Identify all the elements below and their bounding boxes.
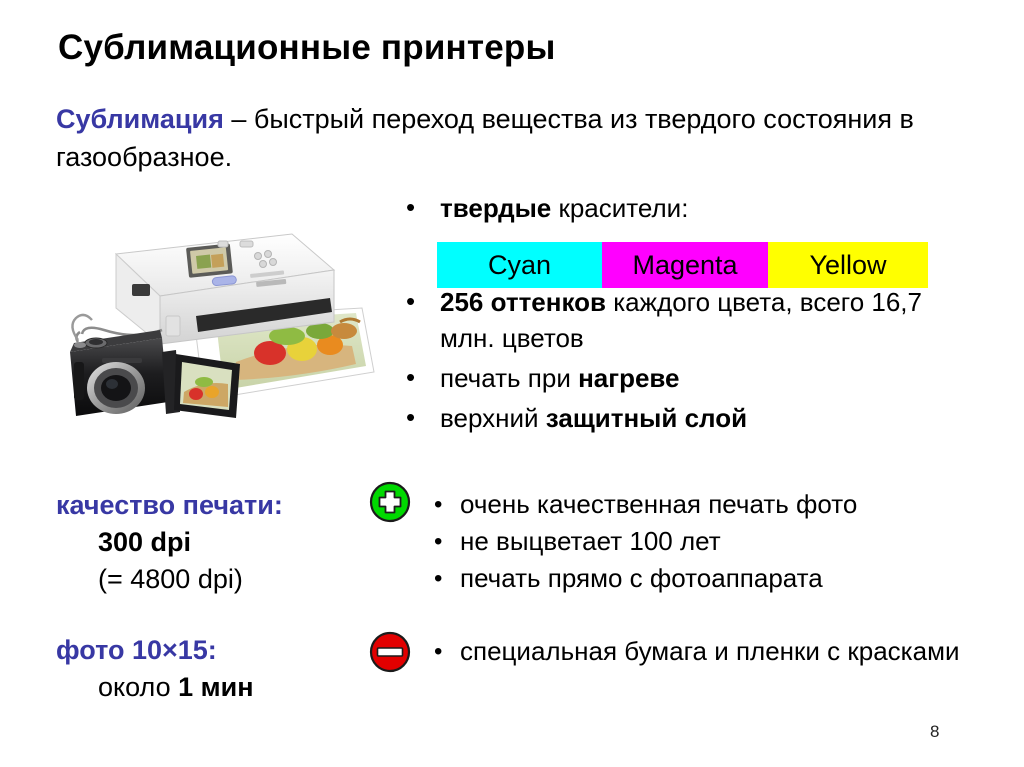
definition-paragraph: Сублимация – быстрый переход вещества из…: [56, 100, 926, 176]
feature-rest-0: красители:: [551, 193, 688, 223]
spec-photo-prefix: около: [98, 672, 178, 702]
spec-dpi-value: 300 dpi: [98, 527, 191, 557]
cmy-color-bar: Cyan Magenta Yellow: [437, 242, 928, 288]
spec-print-quality-label: качество печати:: [56, 487, 376, 524]
pro-item-fade-resistance: не выцветает 100 лет: [432, 523, 992, 560]
color-cell-yellow: Yellow: [768, 242, 928, 288]
feature-bold-0: твердые: [440, 193, 551, 223]
feature-item-256-shades: 256 оттенков каждого цвета, всего 16,7 м…: [404, 284, 964, 356]
spec-photo-time: фото 10×15: около 1 мин: [56, 632, 376, 706]
cons-list: специальная бумага и пленки с красками: [432, 633, 962, 670]
feature-bold-2: нагреве: [578, 363, 679, 393]
features-list: твердые красители: 256 оттенков каждого …: [404, 190, 964, 440]
spec-photo-duration: 1 мин: [178, 672, 253, 702]
photo-printer-and-camera-illustration: [44, 212, 384, 447]
spec-photo-label: фото 10×15:: [56, 632, 376, 669]
color-cell-cyan: Cyan: [437, 242, 602, 288]
printer-camera-svg: [44, 212, 384, 447]
color-cell-magenta: Magenta: [602, 242, 768, 288]
feature-rest-2: печать при: [440, 363, 578, 393]
page-number: 8: [930, 722, 939, 742]
spec-print-quality-value: 300 dpi: [56, 524, 376, 561]
feature-item-heat-printing: печать при нагреве: [404, 360, 964, 396]
pro-item-quality: очень качественная печать фото: [432, 486, 992, 523]
plus-circle-icon: [369, 481, 411, 523]
feature-rest-3: верхний: [440, 403, 546, 433]
feature-item-solid-dyes: твердые красители:: [404, 190, 964, 226]
pro-item-direct-camera-print: печать прямо с фотоаппарата: [432, 560, 992, 597]
spec-print-quality: качество печати: 300 dpi (= 4800 dpi): [56, 487, 376, 598]
con-item-special-media: специальная бумага и пленки с красками: [432, 633, 962, 670]
definition-term: Сублимация: [56, 104, 224, 134]
feature-item-protective-layer: верхний защитный слой: [404, 400, 964, 436]
feature-bold-1: 256 оттенков: [440, 287, 606, 317]
slide-root: Сублимационные принтеры Сублимация – быс…: [0, 0, 1024, 767]
no-entry-icon: [369, 631, 411, 673]
spec-print-quality-note: (= 4800 dpi): [56, 561, 376, 598]
pros-list: очень качественная печать фото не выцвет…: [432, 486, 992, 597]
page-title: Сублимационные принтеры: [58, 28, 556, 68]
spec-photo-value: около 1 мин: [56, 669, 376, 706]
feature-bold-3: защитный слой: [546, 403, 747, 433]
